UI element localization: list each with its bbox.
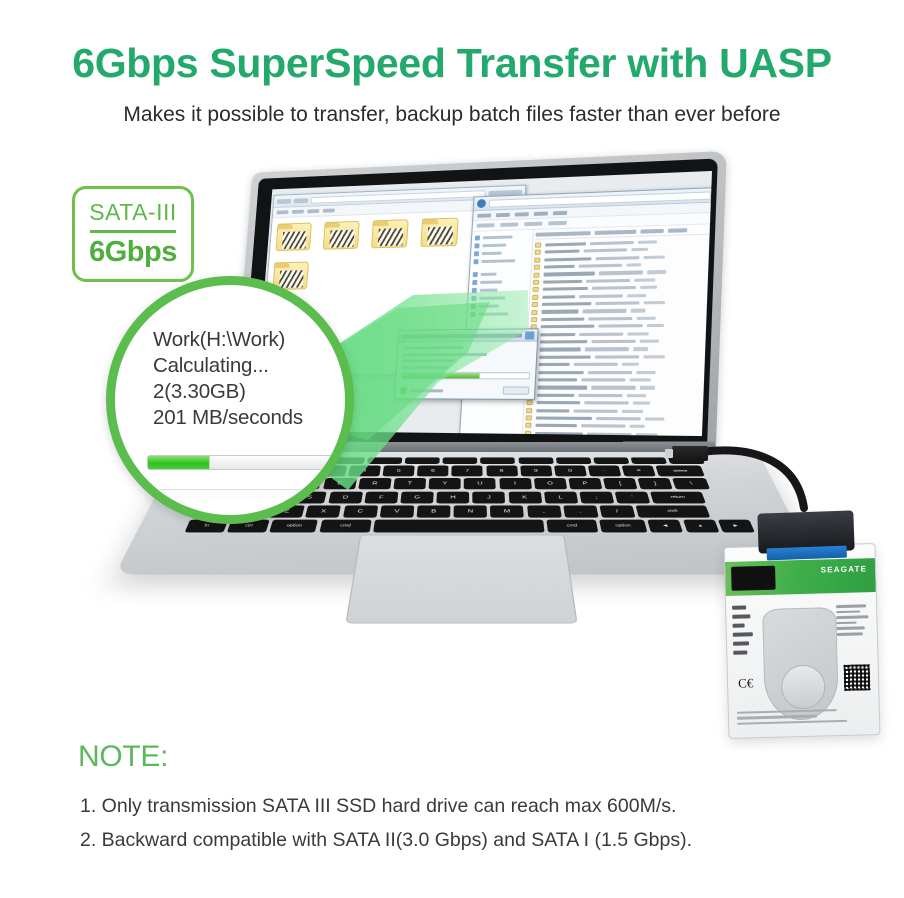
checkbox-icon	[400, 387, 407, 394]
toolbar-button	[548, 221, 566, 226]
file-row	[530, 338, 707, 344]
tree-node-icon	[471, 296, 476, 301]
key-c: C	[342, 505, 377, 517]
folder-item	[320, 221, 361, 256]
key-delete: delete	[656, 466, 705, 477]
qr-code-icon	[844, 664, 871, 691]
menu-item	[477, 213, 491, 217]
file-row	[526, 415, 704, 422]
file-icon	[525, 423, 531, 428]
file-icon	[534, 257, 540, 262]
key-f9	[556, 457, 592, 464]
file-row	[530, 330, 707, 337]
file-row	[532, 299, 709, 307]
drive-brand-label: SEAGATE	[821, 564, 868, 574]
key-semicolon: ;	[579, 491, 614, 503]
key-f6	[443, 457, 478, 464]
menu-item	[534, 211, 548, 215]
menu-item	[292, 210, 304, 214]
file-icon	[533, 272, 539, 277]
folder-icon	[323, 221, 360, 250]
tree-node-icon	[470, 312, 475, 317]
key-equals: =	[622, 466, 656, 477]
menu-item	[515, 212, 529, 216]
toolbar-button	[500, 222, 518, 227]
tree-node-icon	[471, 304, 476, 309]
file-icon	[535, 243, 541, 248]
drive-spec-text	[836, 604, 871, 638]
folder-label	[320, 250, 359, 256]
key-t: T	[393, 478, 426, 489]
hard-drive: SEAGATE C€	[724, 543, 881, 739]
file-row	[525, 431, 703, 436]
key-space	[373, 520, 544, 533]
key-l: L	[544, 491, 578, 503]
file-row	[526, 408, 704, 415]
file-row	[532, 292, 708, 300]
key-bracket-left: [	[603, 478, 638, 489]
key-comma: ,	[527, 505, 562, 517]
file-row	[526, 400, 704, 406]
tree-node-icon	[472, 280, 477, 285]
dialog-checkbox	[400, 387, 443, 394]
file-icon	[531, 317, 537, 322]
file-icon	[535, 250, 541, 255]
page-title: 6Gbps SuperSpeed Transfer with UASP	[0, 40, 904, 87]
file-row	[529, 354, 706, 360]
menu-item	[323, 208, 335, 212]
file-row	[531, 307, 708, 315]
dialog-title	[402, 333, 522, 338]
key-4: 4	[348, 466, 381, 477]
key-quote: '	[615, 491, 651, 503]
magnifier-progress-wrap	[147, 455, 337, 497]
key-y: Y	[429, 478, 461, 489]
toolbar-button	[477, 223, 495, 228]
folder-item	[273, 222, 314, 256]
tree-node-icon	[475, 235, 480, 240]
transfer-source-line: Work(H:\Work)	[153, 327, 349, 353]
menu-item	[277, 210, 289, 214]
file-icon	[534, 265, 540, 270]
file-icon	[533, 280, 539, 285]
page-subtitle: Makes it possible to transfer, backup ba…	[0, 103, 904, 127]
transfer-size-line: 2(3.30GB)	[153, 379, 349, 405]
tree-node-icon	[474, 243, 479, 248]
laptop-trackpad	[345, 535, 577, 624]
key-g: G	[400, 491, 433, 503]
transfer-progress-fill	[148, 456, 210, 469]
key-option-right: option	[599, 520, 647, 533]
drive-footer-text	[737, 708, 857, 727]
column-header-type	[668, 228, 687, 233]
nav-back-icon	[277, 198, 292, 203]
key-m: M	[490, 505, 524, 517]
key-h: H	[436, 491, 469, 503]
column-header-name	[536, 231, 591, 237]
dialog-body	[396, 341, 537, 383]
file-icon	[532, 302, 538, 307]
menu-item	[553, 210, 567, 214]
key-p: P	[568, 478, 602, 489]
key-command-left: cmd	[319, 520, 371, 533]
file-icon	[525, 431, 531, 436]
file-icon	[532, 295, 538, 300]
file-row	[528, 377, 706, 382]
key-6: 6	[417, 466, 449, 477]
transfer-status-line: Calculating...	[153, 353, 349, 379]
menu-item	[307, 209, 319, 213]
key-r: R	[358, 478, 391, 489]
toolbar-button	[524, 222, 542, 227]
ce-mark-icon: C€	[738, 675, 754, 691]
drive-certification-marks	[732, 605, 757, 660]
copy-progress-dialog	[394, 328, 539, 400]
key-7: 7	[452, 466, 483, 477]
key-x: X	[305, 505, 341, 517]
column-header-date	[595, 230, 637, 235]
menu-item	[496, 212, 510, 216]
key-minus: -	[588, 466, 622, 477]
dialog-progress-bar	[401, 372, 530, 379]
keyboard-row-space: fn ctrl option cmd cmd option ◀ ▲ ▶	[184, 520, 751, 533]
key-5: 5	[382, 466, 414, 477]
tree-node-icon	[473, 272, 478, 277]
note-item: 2. Backward compatible with SATA II(3.0 …	[80, 823, 870, 857]
badge-divider	[90, 230, 176, 233]
product-marketing-image: 6Gbps SuperSpeed Transfer with UASP Make…	[0, 0, 904, 898]
key-return: return	[650, 491, 706, 503]
key-f4	[367, 457, 402, 464]
sata-iii-badge: SATA-III 6Gbps	[72, 186, 194, 282]
key-v: V	[380, 505, 415, 517]
file-icon	[526, 408, 532, 413]
key-k: K	[508, 491, 542, 503]
key-b: B	[417, 505, 451, 517]
key-u: U	[464, 478, 496, 489]
key-o: O	[534, 478, 567, 489]
nav-forward-icon	[294, 198, 309, 203]
key-option-left: option	[270, 520, 319, 533]
key-f10	[593, 457, 629, 464]
key-n: N	[454, 505, 487, 517]
dialog-cancel-button	[503, 386, 530, 394]
file-icon	[531, 310, 537, 315]
file-row	[527, 392, 705, 398]
file-row	[530, 323, 707, 330]
file-icon	[526, 400, 532, 405]
key-bracket-right: ]	[638, 478, 673, 489]
dialog-titlebar	[399, 329, 538, 342]
file-row	[529, 346, 706, 352]
key-arrow-left: ◀	[648, 520, 684, 533]
key-8: 8	[486, 466, 518, 477]
folder-item	[418, 217, 461, 252]
key-f5	[405, 457, 440, 464]
dialog-buttons	[503, 386, 530, 394]
file-list	[523, 224, 712, 436]
key-f7	[480, 457, 515, 464]
note-list: 1. Only transmission SATA III SSD hard d…	[80, 789, 870, 857]
key-slash: /	[599, 505, 635, 517]
key-j: J	[473, 491, 506, 503]
key-f: F	[364, 491, 398, 503]
magnifier-text: Work(H:\Work) Calculating... 2(3.30GB) 2…	[153, 327, 349, 431]
badge-bottom-label: 6Gbps	[89, 236, 177, 269]
magnifier-lens: Work(H:\Work) Calculating... 2(3.30GB) 2…	[106, 276, 354, 524]
key-command-right: cmd	[546, 520, 598, 533]
file-row	[533, 284, 709, 292]
key-0: 0	[554, 466, 587, 477]
file-icon	[526, 415, 532, 420]
key-f11	[631, 457, 668, 464]
close-icon	[525, 331, 535, 339]
folder-icon	[275, 223, 312, 252]
file-row	[531, 315, 708, 322]
sata-to-usb-adapter	[757, 510, 854, 553]
badge-top-label: SATA-III	[89, 199, 177, 228]
explorer-orb-icon	[477, 199, 486, 208]
progress-secondary-line	[147, 489, 337, 497]
transfer-speed-line: 201 MB/seconds	[153, 405, 349, 431]
usb-plug	[672, 446, 708, 461]
file-row	[528, 369, 706, 374]
note-item: 1. Only transmission SATA III SSD hard d…	[80, 789, 870, 823]
file-row	[528, 362, 705, 368]
folder-item	[369, 219, 411, 254]
drive-platter-graphic	[762, 607, 839, 721]
folder-icon	[371, 219, 409, 248]
tree-node-icon	[473, 259, 478, 264]
file-row	[525, 423, 703, 430]
key-f8	[518, 457, 553, 464]
folder-label	[369, 248, 409, 254]
key-period: .	[563, 505, 598, 517]
tree-node-icon	[472, 288, 477, 293]
transfer-progress-bar	[147, 455, 337, 470]
folder-label	[273, 251, 311, 257]
column-header-size	[640, 229, 663, 234]
folder-icon	[420, 218, 458, 247]
key-i: I	[499, 478, 532, 489]
file-icon	[533, 287, 539, 292]
key-9: 9	[520, 466, 552, 477]
folder-label	[418, 247, 459, 253]
file-row	[527, 385, 705, 391]
tree-node-icon	[474, 251, 479, 256]
